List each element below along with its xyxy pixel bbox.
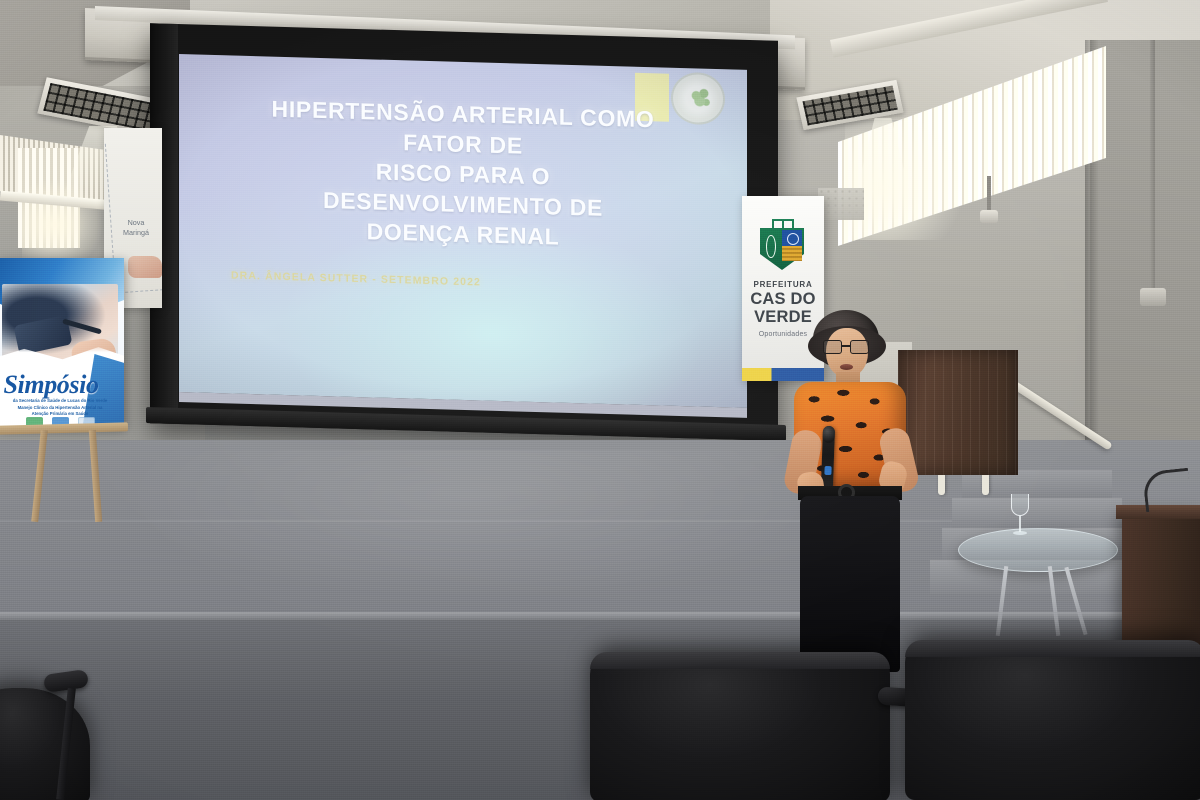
handheld-microphone-icon [821, 426, 835, 488]
wall-vent-grill [818, 188, 864, 220]
presenter-mouth [840, 364, 853, 370]
presenter-trousers [800, 496, 900, 672]
stage-step [952, 498, 1122, 528]
presenter [780, 310, 930, 690]
projection-screen: HIPERTENSÃO ARTERIAL COMO FATOR DE RISCO… [150, 23, 778, 441]
eyeglass-lens-right [850, 340, 869, 354]
eyeglass-bridge [842, 345, 850, 347]
chair-backrest-rim [590, 652, 890, 669]
pendant-fixture [987, 176, 991, 210]
wall-conduit [1150, 40, 1155, 290]
municipal-coat-of-arms-icon [760, 228, 804, 270]
crest-crown-icon [772, 219, 794, 228]
poster-title: º Simpósio [0, 370, 124, 400]
poster-subtitle: da Secretaria de Saúde de Lucas do Rio V… [0, 398, 120, 418]
poster-subtitle-line-2: Manejo Clínico da Hipertensão Arterial n… [0, 405, 120, 412]
conduit-junction-box [1140, 288, 1166, 306]
auditorium-chair-right [905, 640, 1200, 800]
crest-chain-motif [766, 235, 776, 259]
poster-subtitle-line-1: da Secretaria de Saúde de Lucas do Rio V… [0, 398, 120, 405]
slide-subtitle: DRA. ÂNGELA SUTTER - SETEMBRO 2022 [231, 269, 481, 288]
auditorium-chair-center [590, 652, 890, 800]
microphone-indicator [824, 466, 831, 475]
wine-glass-foot [1013, 531, 1027, 535]
wine-glass-stem [1019, 516, 1021, 532]
eyeglass-lens-left [823, 340, 842, 354]
prefeitura-line-1: PREFEITURA [742, 280, 824, 289]
wine-glass-bowl [1011, 494, 1029, 516]
slide-title: HIPERTENSÃO ARTERIAL COMO FATOR DE RISCO… [179, 92, 747, 257]
map-label: Nova Maringá [110, 218, 162, 237]
slide-surface: HIPERTENSÃO ARTERIAL COMO FATOR DE RISCO… [179, 54, 747, 408]
glass-side-table [958, 528, 1118, 572]
chair-backrest-rim [905, 640, 1200, 657]
eyeglasses-icon [823, 340, 871, 354]
photograph-scene: HIPERTENSÃO ARTERIAL COMO FATOR DE RISCO… [0, 0, 1200, 800]
crest-gold-quarter [782, 246, 802, 260]
map-label-line-1: Nova [110, 218, 162, 228]
wine-glass [1010, 494, 1030, 536]
map-region-shape [128, 256, 162, 278]
simposio-poster: º Simpósio da Secretaria de Saúde de Luc… [0, 258, 124, 428]
map-label-line-2: Maringá [110, 228, 162, 238]
